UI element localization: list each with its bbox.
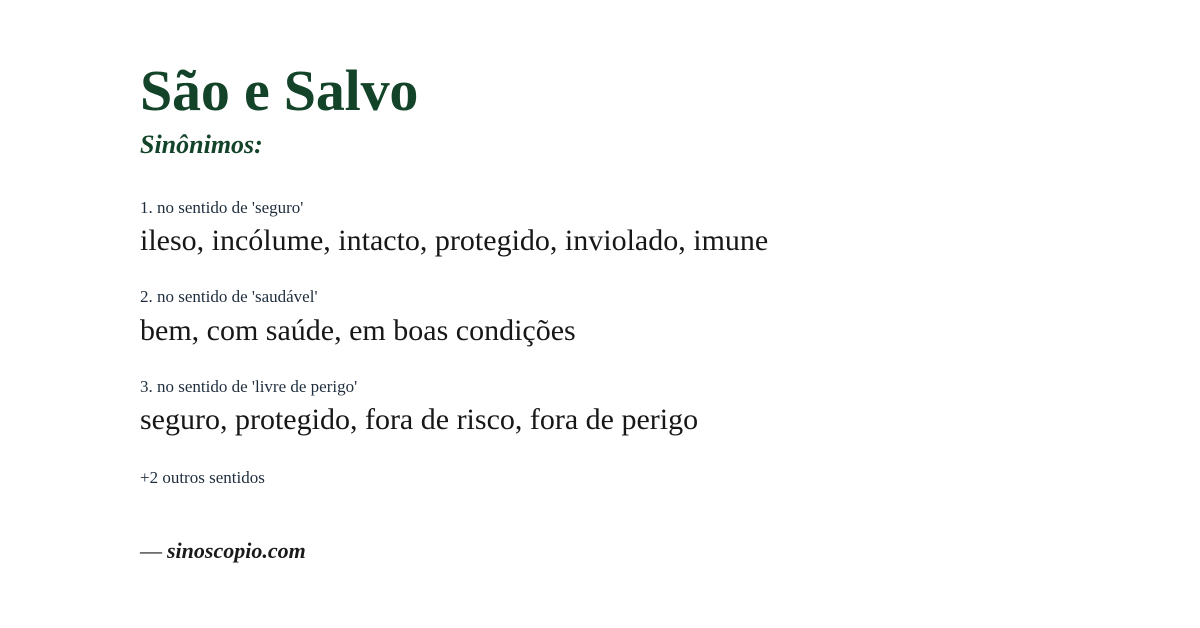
sense-label: 2. no sentido de 'saudável' xyxy=(140,286,1140,307)
more-senses-note: +2 outros sentidos xyxy=(140,467,1140,488)
sense-synonyms: seguro, protegido, fora de risco, fora d… xyxy=(140,402,1140,438)
sense-synonyms: bem, com saúde, em boas condições xyxy=(140,313,1140,349)
sense-entry-3: 3. no sentido de 'livre de perigo' segur… xyxy=(140,376,1140,438)
sense-list: 1. no sentido de 'seguro' ileso, incólum… xyxy=(140,197,1140,438)
sense-label: 1. no sentido de 'seguro' xyxy=(140,197,1140,218)
card-header: São e Salvo Sinônimos: xyxy=(140,0,1140,159)
attribution: —sinoscopio.com xyxy=(140,538,1140,564)
subtitle-synonyms: Sinônimos: xyxy=(140,131,1140,160)
attribution-source: sinoscopio.com xyxy=(167,538,306,563)
sense-entry-1: 1. no sentido de 'seguro' ileso, incólum… xyxy=(140,197,1140,259)
synonym-card: São e Salvo Sinônimos: 1. no sentido de … xyxy=(0,0,1200,628)
sense-entry-2: 2. no sentido de 'saudável' bem, com saú… xyxy=(140,286,1140,348)
em-dash-icon: — xyxy=(140,538,162,563)
page-title: São e Salvo xyxy=(140,60,1140,123)
sense-synonyms: ileso, incólume, intacto, protegido, inv… xyxy=(140,223,1140,259)
sense-label: 3. no sentido de 'livre de perigo' xyxy=(140,376,1140,397)
